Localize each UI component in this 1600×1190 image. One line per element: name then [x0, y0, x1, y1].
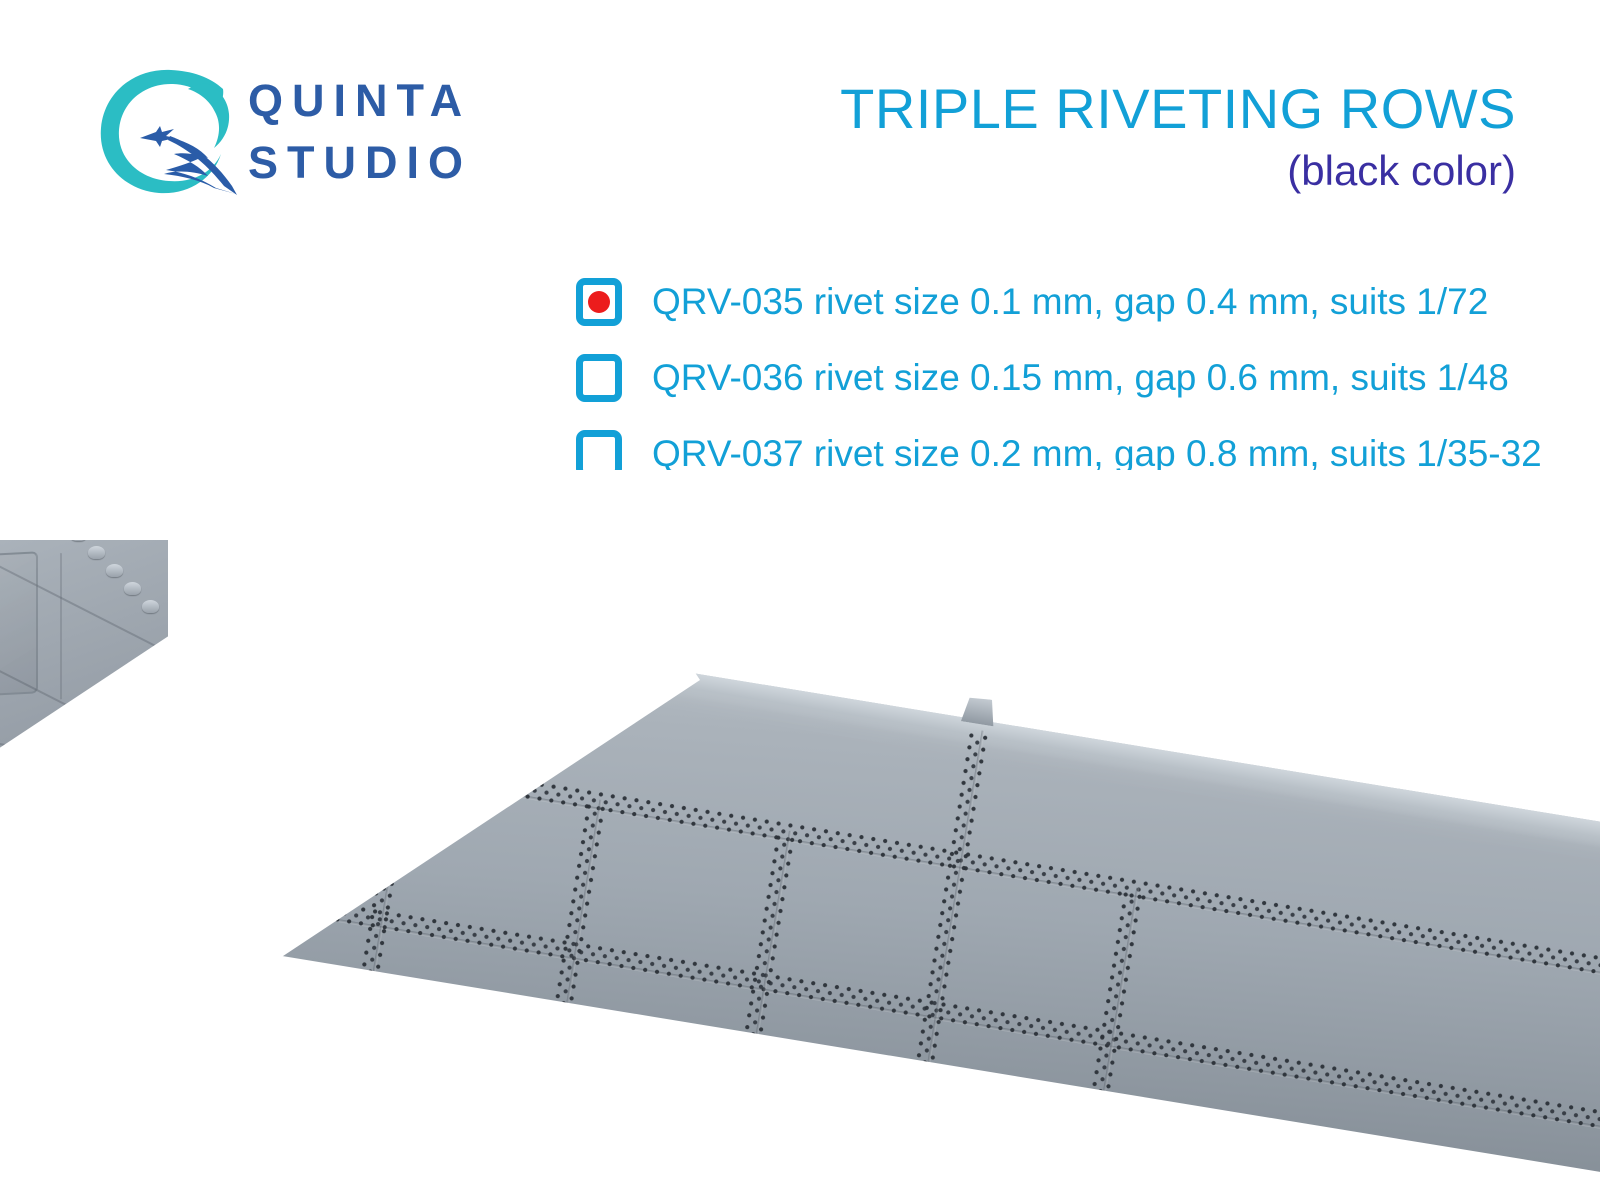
- hinge-bump: [106, 564, 123, 577]
- list-item-label: QRV-036 rivet size 0.15 mm, gap 0.6 mm, …: [652, 354, 1509, 402]
- brand-name: QUINTA STUDIO: [248, 70, 648, 194]
- quinta-q-jet-logo-icon: [96, 66, 238, 198]
- hinge-bump: [124, 582, 141, 595]
- list-item[interactable]: QRV-036 rivet size 0.15 mm, gap 0.6 mm, …: [576, 348, 1536, 424]
- list-item-label: QRV-035 rivet size 0.1 mm, gap 0.4 mm, s…: [652, 278, 1488, 326]
- list-item[interactable]: QRV-035 rivet size 0.1 mm, gap 0.4 mm, s…: [576, 272, 1536, 348]
- page-subtitle: (black color): [840, 144, 1516, 198]
- checkbox-qrv-036[interactable]: [576, 354, 622, 402]
- hinge-bump: [142, 600, 159, 613]
- brand-name-line2: STUDIO: [248, 132, 648, 194]
- brand-name-line1: QUINTA: [248, 70, 648, 132]
- hinge-bump: [88, 546, 105, 559]
- title-block: TRIPLE RIVETING ROWS (black color): [840, 78, 1516, 198]
- recessed-panel: [0, 551, 38, 702]
- checkbox-selected-dot: [588, 291, 610, 313]
- product-label-page: QUINTA STUDIO TRIPLE RIVETING ROWS (blac…: [0, 0, 1600, 1190]
- brand-block: QUINTA STUDIO: [96, 62, 556, 202]
- product-photo: [0, 470, 1600, 1190]
- page-title: TRIPLE RIVETING ROWS: [840, 78, 1516, 140]
- checkbox-qrv-035[interactable]: [576, 278, 622, 326]
- header: QUINTA STUDIO TRIPLE RIVETING ROWS (blac…: [0, 0, 1600, 230]
